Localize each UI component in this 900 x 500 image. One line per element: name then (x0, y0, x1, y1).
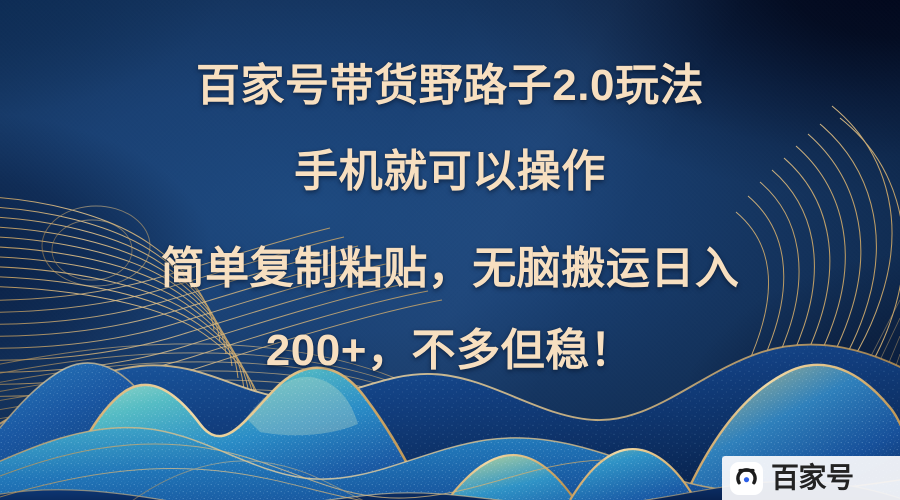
baijiahao-bear-paw-icon (733, 465, 760, 492)
baijiahao-logo-badge (730, 462, 763, 495)
brand-name-label: 百家号 (771, 464, 854, 492)
background-texture-noise (0, 0, 900, 500)
promo-banner: 百家号带货野路子2.0玩法 手机就可以操作 简单复制粘贴，无脑搬运日入 200+… (0, 0, 900, 500)
brand-watermark[interactable]: 百家号 (722, 456, 900, 500)
